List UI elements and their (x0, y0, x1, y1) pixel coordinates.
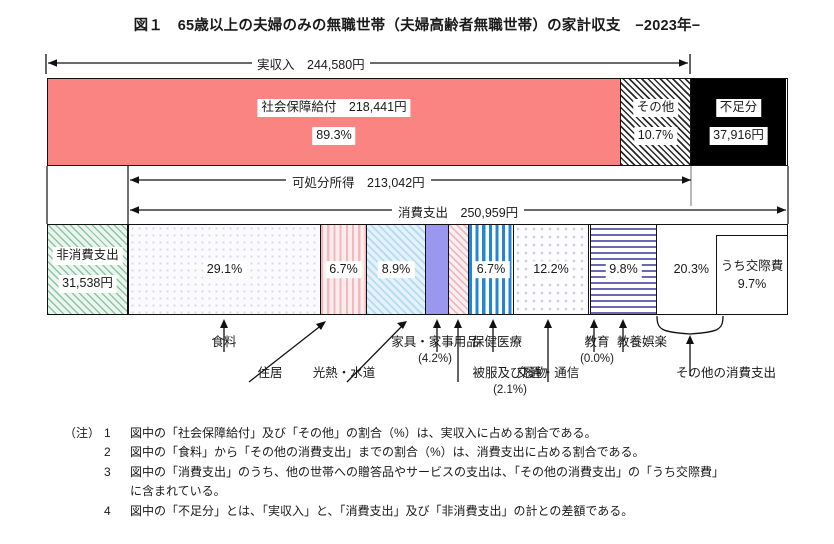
segment-culture: 9.8% (591, 225, 657, 314)
callout-transport: 交通・通信 (517, 365, 580, 381)
segment-deficit: 不足分 37,916円 (691, 79, 786, 165)
income-bar: 社会保障給付 218,441円 89.3% その他 10.7% 不足分 37,9… (47, 78, 788, 166)
note-text: 図中の「不足分」とは、「実収入」と、「消費支出」及び「非消費支出」の計との差額で… (130, 502, 824, 521)
note-text: 図中の「消費支出」のうち、他の世帯への贈答品やサービスの支出は、「その他の消費支… (130, 463, 824, 482)
social-security-label: 社会保障給付 218,441円 (257, 99, 410, 117)
callout-other-consumption: その他の消費支出 (676, 365, 776, 381)
shakouhi-label: うち交際費 (721, 257, 784, 275)
consumption-bar: 29.1% 6.7% 8.9% 6.7% 12.2% 9.8% 20.3% (128, 224, 788, 315)
note-number: 2 (104, 443, 130, 462)
shakouhi-pct: 9.7% (738, 275, 767, 293)
non-consumption-label: 非消費支出 (52, 247, 123, 265)
segment-social-security: 社会保障給付 218,441円 89.3% (48, 79, 621, 165)
notes-keyword: （注） (64, 424, 104, 443)
consumption-span-label: 消費支出 250,959円 (392, 202, 524, 221)
callout-education: 教育 (584, 334, 609, 350)
note-row: 4 図中の「不足分」とは、「実収入」と、「消費支出」及び「非消費支出」の計との差… (64, 502, 824, 521)
callout-furniture-pct: (4.2%) (418, 352, 452, 367)
note-number: 1 (104, 424, 130, 443)
housing-pct: 6.7% (325, 261, 362, 279)
figure-title: 図１ 65歳以上の夫婦のみの無職世帯（夫婦高齢者無職世帯）の家計収支 −2023… (0, 14, 834, 35)
health-pct: 6.7% (473, 261, 510, 279)
callout-housing: 住居 (257, 365, 282, 381)
utilities-pct: 8.9% (378, 261, 415, 279)
segment-food: 29.1% (129, 225, 321, 314)
callout-culture: 教養娯楽 (617, 334, 667, 350)
other-income-label: その他 (633, 99, 679, 117)
callout-food: 食料 (211, 334, 236, 350)
note-row: （注） 1 図中の「社会保障給付」及び「その他」の割合（%）は、実収入に占める割… (64, 424, 824, 443)
transport-pct: 12.2% (529, 261, 572, 279)
callout-health: 保健医療 (472, 334, 522, 350)
callout-furniture: 家具・家事用品 (391, 334, 479, 350)
non-consumption-box: 非消費支出 31,538円 (47, 224, 128, 315)
food-pct: 29.1% (203, 261, 246, 279)
segment-health: 6.7% (469, 225, 514, 314)
social-security-pct: 89.3% (312, 127, 355, 145)
note-continuation: に含まれている。 (130, 482, 824, 501)
disposable-income-label: 可処分所得 213,042円 (286, 172, 431, 191)
note-row: 3 図中の「消費支出」のうち、他の世帯への贈答品やサービスの支出は、「その他の消… (64, 463, 824, 482)
inner-box-shakouhi: うち交際費 9.7% (716, 235, 788, 315)
note-text: 図中の「食料」から「その他の消費支出」までの割合（%）は、消費支出に占める割合で… (130, 443, 824, 462)
non-consumption-amount: 31,538円 (58, 275, 117, 293)
callout-education-pct: (0.0%) (580, 352, 614, 367)
deficit-label: 不足分 (716, 99, 762, 117)
note-number: 3 (104, 463, 130, 482)
callout-clothing-pct: (2.1%) (493, 383, 527, 398)
note-text: 図中の「社会保障給付」及び「その他」の割合（%）は、実収入に占める割合である。 (130, 424, 824, 443)
segment-clothing (449, 225, 469, 314)
segment-housing: 6.7% (321, 225, 367, 314)
note-row: 2 図中の「食料」から「その他の消費支出」までの割合（%）は、消費支出に占める割… (64, 443, 824, 462)
income-span-arrow (44, 52, 704, 76)
segment-utilities: 8.9% (367, 225, 426, 314)
callout-leader-lines (0, 314, 834, 406)
segment-furniture (426, 225, 449, 314)
segment-transport: 12.2% (514, 225, 589, 314)
income-span-label: 実収入 244,580円 (252, 54, 370, 73)
callout-utilities: 光熱・水道 (313, 365, 376, 381)
note-number: 4 (104, 502, 130, 521)
segment-other-income: その他 10.7% (621, 79, 691, 165)
notes-block: （注） 1 図中の「社会保障給付」及び「その他」の割合（%）は、実収入に占める割… (64, 424, 824, 521)
culture-pct: 9.8% (605, 261, 642, 279)
other-consumption-pct: 20.3% (670, 261, 713, 279)
figure-root: 図１ 65歳以上の夫婦のみの無職世帯（夫婦高齢者無職世帯）の家計収支 −2023… (0, 0, 834, 544)
deficit-amount: 37,916円 (709, 127, 768, 145)
other-income-pct: 10.7% (634, 127, 677, 145)
